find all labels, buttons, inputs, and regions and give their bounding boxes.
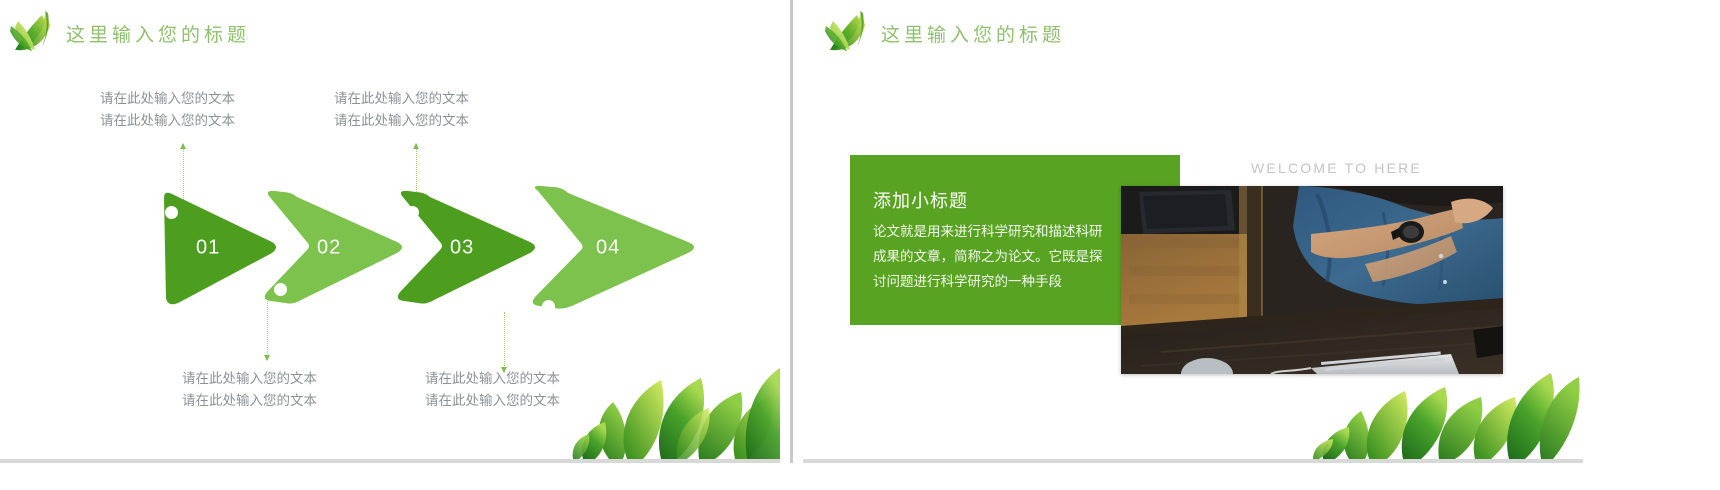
leaves-decoration-icon	[1313, 359, 1583, 459]
slide-header: 这里输入您的标题	[2, 4, 250, 62]
leaves-decoration-icon	[565, 344, 780, 459]
slide-content[interactable]: 这里输入您的标题 WELCOME TO HERE 添加小标题 论文就是用来进行科…	[803, 0, 1583, 463]
step-dot-icon	[274, 283, 287, 296]
step-number: 04	[596, 236, 620, 259]
step-dot-icon	[165, 206, 178, 219]
step-number: 02	[317, 236, 341, 259]
slide-deck: 这里输入您的标题 请在此处输入您的文本 请在此处输入您的文本 请在此处输入您的文…	[0, 0, 1720, 490]
process-step-4[interactable]: 04	[518, 190, 703, 305]
caption-line: 请在此处输入您的文本	[100, 110, 235, 132]
person-at-desk-photo	[1121, 186, 1503, 374]
page-title: 这里输入您的标题	[66, 20, 250, 47]
caption-bottom-1: 请在此处输入您的文本 请在此处输入您的文本	[182, 368, 317, 412]
welcome-label: WELCOME TO HERE	[1251, 160, 1422, 176]
caption-line: 请在此处输入您的文本	[425, 368, 560, 390]
caption-bottom-2: 请在此处输入您的文本 请在此处输入您的文本	[425, 368, 560, 412]
step-number: 03	[450, 236, 474, 259]
arrow-head-up-icon	[180, 143, 186, 149]
caption-line: 请在此处输入您的文本	[182, 368, 317, 390]
connector-down-2	[504, 312, 505, 372]
slide-bottom-edge	[803, 459, 1583, 463]
page-title: 这里输入您的标题	[881, 20, 1065, 47]
dotted-line-icon	[504, 312, 505, 372]
caption-line: 请在此处输入您的文本	[334, 88, 469, 110]
arrow-head-up-icon	[413, 143, 419, 149]
caption-line: 请在此处输入您的文本	[334, 110, 469, 132]
step-number: 01	[196, 236, 220, 259]
step-dot-icon	[406, 206, 419, 219]
step-dot-icon	[542, 300, 555, 313]
leaf-logo-icon	[817, 5, 881, 61]
card-title: 添加小标题	[873, 187, 968, 213]
slide-header: 这里输入您的标题	[817, 4, 1065, 62]
caption-top-2: 请在此处输入您的文本 请在此处输入您的文本	[334, 88, 469, 132]
leaf-logo-icon	[2, 5, 66, 61]
process-arrows: 01 02 03	[150, 190, 670, 305]
slide-bottom-edge	[0, 459, 780, 463]
slide-gutter	[780, 0, 790, 490]
slide-gutter	[793, 0, 803, 490]
slide-process[interactable]: 这里输入您的标题 请在此处输入您的文本 请在此处输入您的文本 请在此处输入您的文…	[0, 0, 780, 463]
caption-line: 请在此处输入您的文本	[182, 390, 317, 412]
caption-top-1: 请在此处输入您的文本 请在此处输入您的文本	[100, 88, 235, 132]
caption-line: 请在此处输入您的文本	[100, 88, 235, 110]
card-body: 论文就是用来进行科学研究和描述科研成果的文章，简称之为论文。它既是探讨问题进行科…	[873, 219, 1111, 294]
caption-line: 请在此处输入您的文本	[425, 390, 560, 412]
arrow-head-down-icon	[264, 355, 270, 361]
